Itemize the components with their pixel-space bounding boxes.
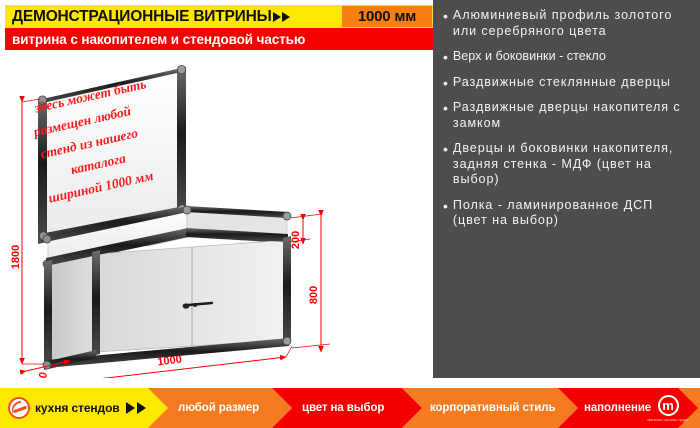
feature-text: Раздвижные дверцы накопителя с замком: [453, 100, 692, 131]
feature-text: Полка - ламинированное ДСП (цвет на выбо…: [453, 198, 692, 229]
product-drawing: здесь может быть размещен любой стенд из…: [0, 52, 433, 378]
feature-text: Раздвижные стеклянные дверцы: [453, 75, 671, 91]
brand-mark-icon: m: [658, 395, 679, 416]
feature-item: • Алюминиевый профиль золотого или сереб…: [443, 8, 692, 39]
feature-text: Верх и боковинки - стекло: [453, 49, 606, 65]
subtitle-bar: витрина с накопителем и стендовой частью: [5, 28, 433, 50]
feature-item: • Раздвижные дверцы накопителя с замком: [443, 100, 692, 131]
dim-depth: 400: [34, 371, 50, 378]
brand-tagline: магазин охраны труда: [648, 418, 689, 422]
kitchen-logo-icon: [8, 397, 30, 419]
dim-width: 1000: [157, 354, 183, 369]
header: ДЕМОНСТРАЦИОННЫЕ ВИТРИНЫ 1000 мм витрина…: [5, 5, 433, 50]
double-triangle-right-icon: [126, 402, 146, 414]
title-bar: ДЕМОНСТРАЦИОННЫЕ ВИТРИНЫ: [5, 5, 341, 28]
bottom-segment-corporate[interactable]: корпоративный стиль: [402, 388, 578, 428]
bottom-segment-label: цвет на выбор: [302, 402, 384, 414]
bullet-icon: •: [443, 198, 448, 213]
size-badge-label: 1000 мм: [358, 8, 416, 25]
bottom-process-bar: кухня стендов любой размер цвет на выбор…: [0, 388, 700, 428]
dim-cabinet-height: 800: [308, 286, 320, 304]
page-title: ДЕМОНСТРАЦИОННЫЕ ВИТРИНЫ: [5, 8, 272, 26]
dim-glass-height: 200: [290, 231, 302, 249]
feature-text: Дверцы и боковинки накопителя, задняя ст…: [453, 141, 692, 188]
bullet-icon: •: [443, 100, 448, 115]
feature-item: • Раздвижные стеклянные дверцы: [443, 75, 692, 91]
dim-height-total: 1800: [10, 245, 22, 269]
bullet-icon: •: [443, 141, 448, 156]
double-triangle-right-icon: [273, 12, 290, 22]
bullet-icon: •: [443, 8, 448, 23]
feature-item: • Верх и боковинки - стекло: [443, 49, 692, 65]
feature-text: Алюминиевый профиль золотого или серебря…: [453, 8, 692, 39]
feature-item: • Дверцы и боковинки накопителя, задняя …: [443, 141, 692, 188]
bottom-segment-color[interactable]: цвет на выбор: [272, 388, 422, 428]
feature-item: • Полка - ламинированное ДСП (цвет на вы…: [443, 198, 692, 229]
bullet-icon: •: [443, 49, 448, 64]
bottom-segment-label: кухня стендов: [35, 401, 120, 415]
bottom-segment-label: любой размер: [178, 402, 259, 414]
bullet-icon: •: [443, 75, 448, 90]
brand-logo[interactable]: m магазин охраны труда: [640, 388, 696, 428]
page-subtitle: витрина с накопителем и стендовой частью: [5, 32, 305, 47]
bottom-segment-label: корпоративный стиль: [430, 402, 555, 414]
size-badge: 1000 мм: [341, 5, 433, 28]
bottom-segment-kitchen[interactable]: кухня стендов: [0, 388, 168, 428]
bottom-segment-size[interactable]: любой размер: [148, 388, 292, 428]
slide-root: ДЕМОНСТРАЦИОННЫЕ ВИТРИНЫ 1000 мм витрина…: [0, 0, 700, 428]
features-panel: • Алюминиевый профиль золотого или сереб…: [433, 0, 700, 378]
